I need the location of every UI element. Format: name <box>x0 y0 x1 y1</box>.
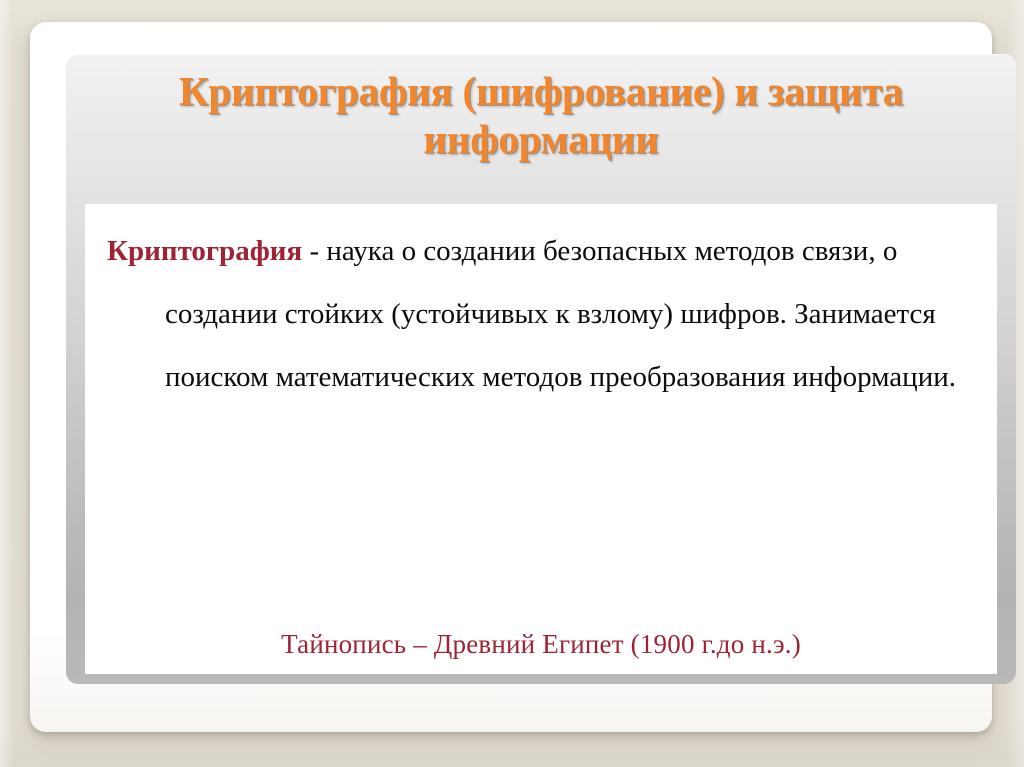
title-block: Криптография (шифрование) и защита инфор… <box>66 68 1016 163</box>
origin-note: Тайнопись – Древний Египет (1900 г.до н.… <box>85 628 997 660</box>
definition-paragraph: Криптография - наука о создании безопасн… <box>107 220 975 409</box>
definition-separator: - <box>302 235 326 267</box>
page-title: Криптография (шифрование) и защита инфор… <box>80 68 1002 163</box>
definition-term: Криптография <box>107 235 302 267</box>
content-panel: Криптография (шифрование) и защита инфор… <box>66 54 1016 684</box>
slide-frame: Криптография (шифрование) и защита инфор… <box>30 22 992 732</box>
body-card: Криптография - наука о создании безопасн… <box>85 204 997 674</box>
slide-canvas: Криптография (шифрование) и защита инфор… <box>0 0 1024 767</box>
